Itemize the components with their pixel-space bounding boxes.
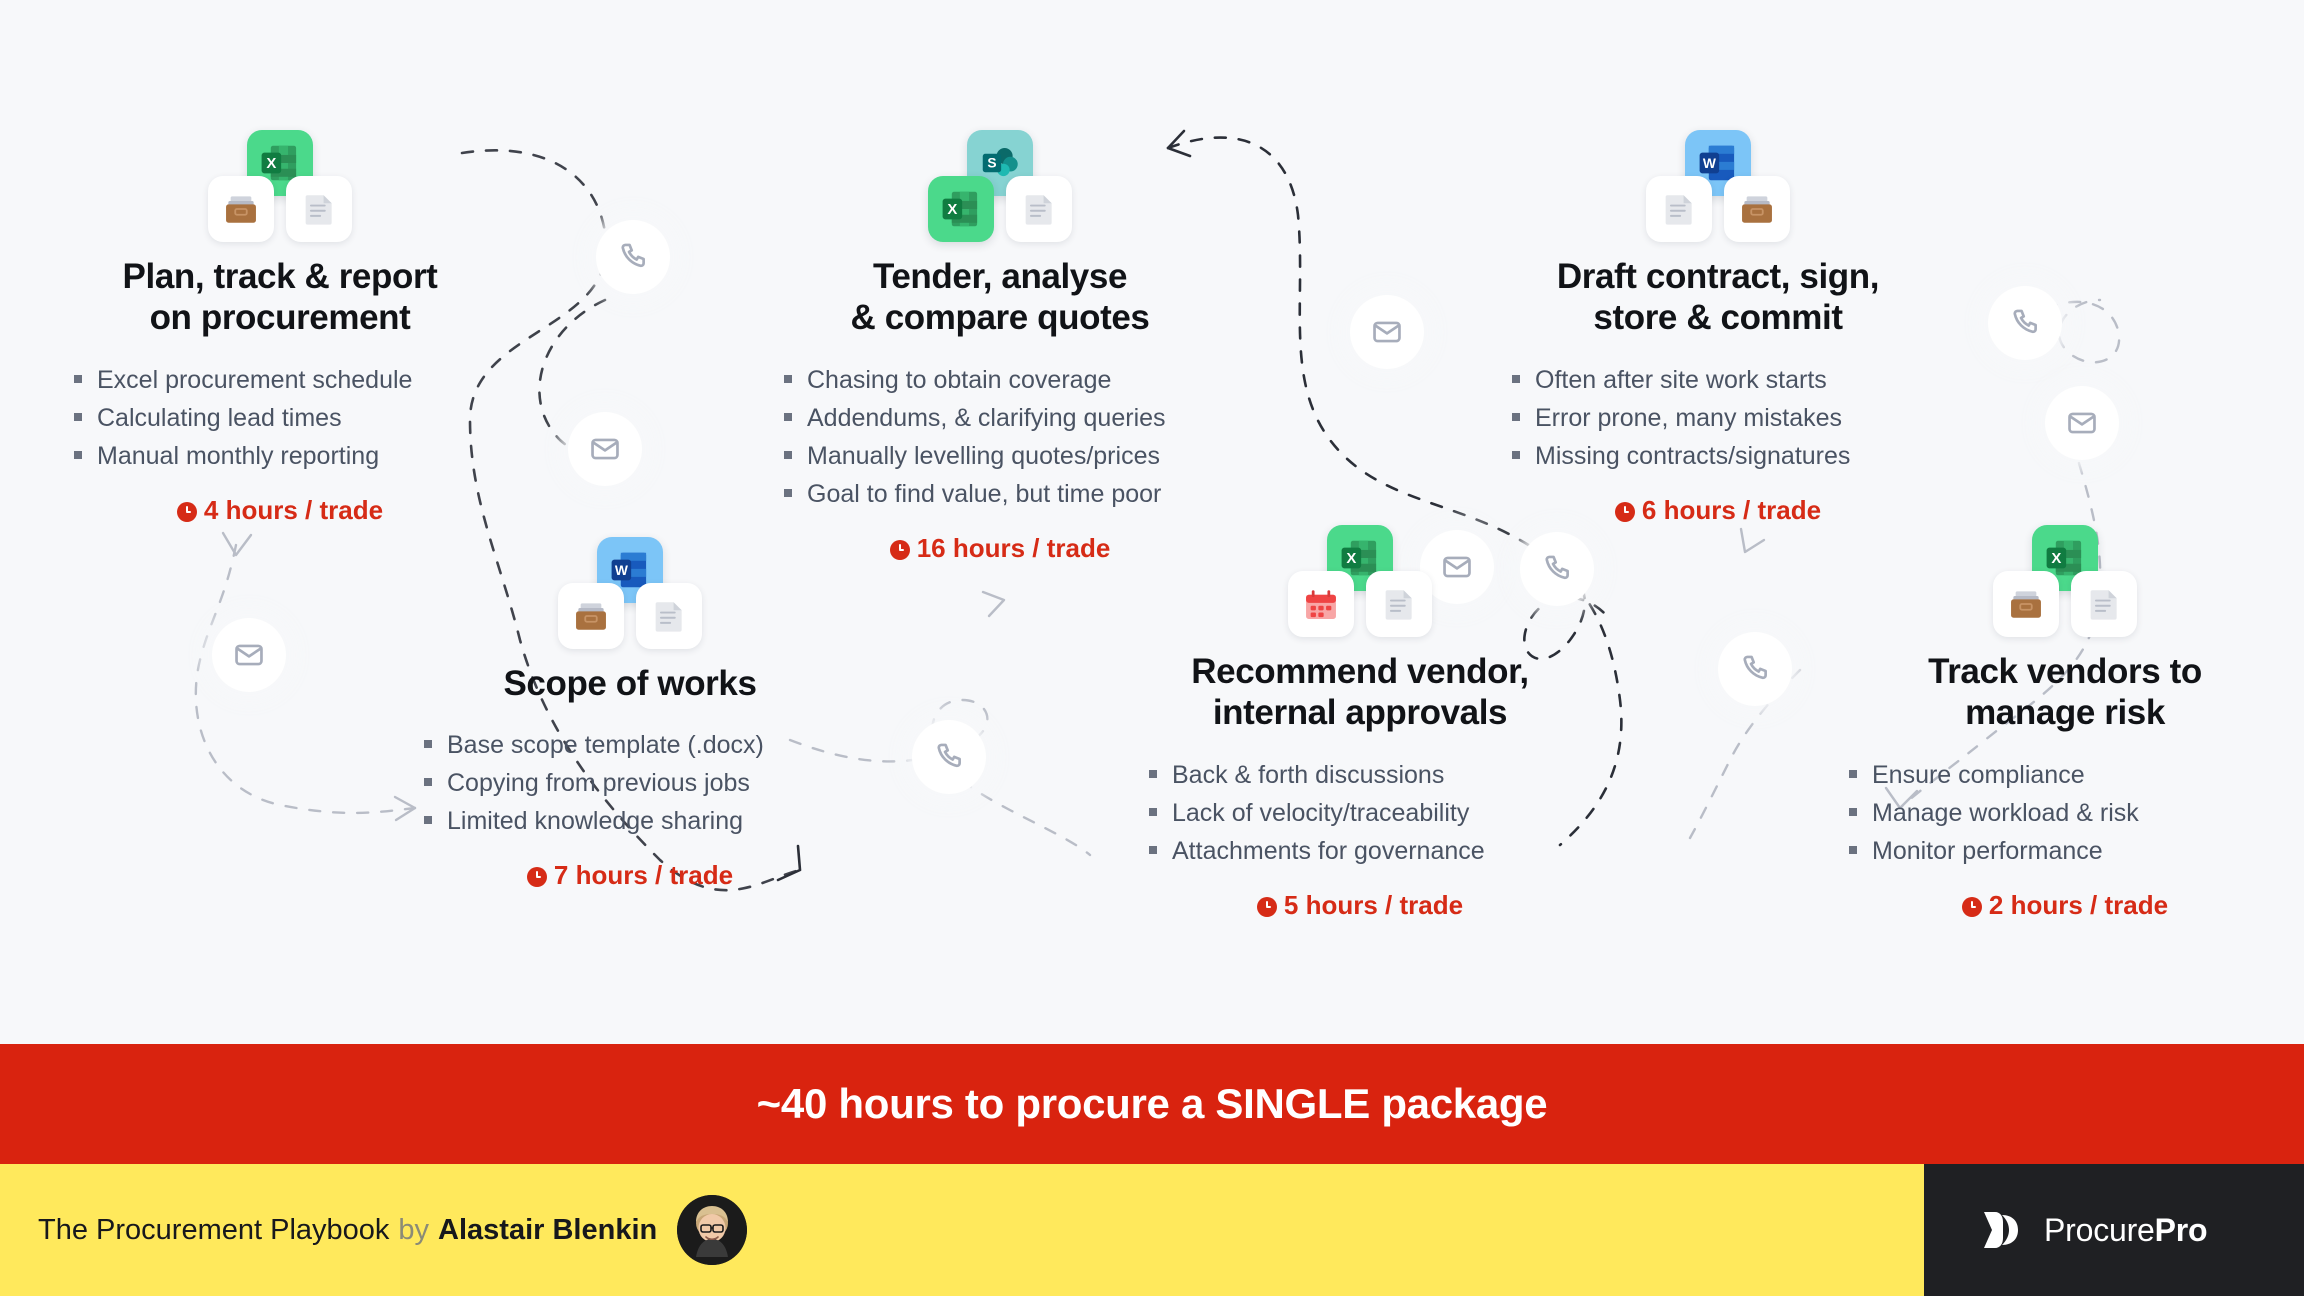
step-bullets: Base scope template (.docx) Copying from… (420, 726, 840, 840)
brand-suffix: Pro (2155, 1212, 2208, 1248)
svg-text:X: X (2051, 550, 2061, 567)
svg-text:S: S (987, 156, 996, 171)
bubble-envelope-1 (568, 412, 642, 486)
footer-brand-bar: The Procurement Playbook by Alastair Ble… (0, 1164, 1924, 1296)
envelope-icon (1370, 315, 1404, 349)
icon-cluster: W (1618, 130, 1818, 242)
svg-text:W: W (1703, 156, 1716, 171)
phone-icon (616, 240, 650, 274)
envelope-icon (2065, 406, 2099, 440)
step-bullets: Back & forth discussions Lack of velocit… (1145, 756, 1575, 870)
file-box-icon (1993, 571, 2059, 637)
list-item: Copying from previous jobs (420, 764, 840, 802)
phone-icon (1738, 652, 1772, 686)
clock-icon (1962, 897, 1982, 917)
phone-icon (932, 740, 966, 774)
hours-badge: 4 hours / trade (70, 495, 490, 526)
step-title: Draft contract, sign, store & commit (1508, 256, 1928, 339)
infographic-canvas: X Plan, track & report on procurement Ex… (0, 0, 2304, 1296)
svg-text:X: X (947, 201, 957, 218)
author-name: Alastair Blenkin (438, 1214, 657, 1247)
hours-badge: 5 hours / trade (1145, 890, 1575, 921)
list-item: Monitor performance (1845, 832, 2285, 870)
step-title: Scope of works (420, 663, 840, 704)
icon-cluster: W (530, 537, 730, 649)
step-bullets: Ensure compliance Manage workload & risk… (1845, 756, 2285, 870)
document-icon (2071, 571, 2137, 637)
document-icon (1006, 176, 1072, 242)
file-box-icon (208, 176, 274, 242)
file-box-icon (1724, 176, 1790, 242)
bubble-phone-2 (912, 720, 986, 794)
list-item: Attachments for governance (1145, 832, 1575, 870)
list-item: Often after site work starts (1508, 361, 1928, 399)
total-hours-banner: ~40 hours to procure a SINGLE package (0, 1044, 2304, 1164)
step-recommend-vendor: X Recommend vendor, internal approvals B… (1145, 525, 1575, 921)
list-item: Limited knowledge sharing (420, 802, 840, 840)
file-box-icon (558, 583, 624, 649)
list-item: Addendums, & clarifying queries (780, 399, 1220, 437)
list-item: Manage workload & risk (1845, 794, 2285, 832)
banner-text: ~40 hours to procure a SINGLE package (757, 1080, 1548, 1128)
document-icon (636, 583, 702, 649)
document-icon (286, 176, 352, 242)
list-item: Goal to find value, but time poor (780, 475, 1220, 513)
step-draft-contract: W Draft contract, sign, store & commit O… (1508, 130, 1928, 526)
icon-cluster: X (1260, 525, 1460, 637)
clock-icon (1257, 897, 1277, 917)
document-icon (1366, 571, 1432, 637)
clock-icon (890, 540, 910, 560)
list-item: Back & forth discussions (1145, 756, 1575, 794)
calendar-icon (1288, 571, 1354, 637)
clock-icon (1615, 502, 1635, 522)
list-item: Ensure compliance (1845, 756, 2285, 794)
byline-word: by (398, 1214, 429, 1247)
envelope-icon (232, 638, 266, 672)
bubble-phone-5 (1988, 286, 2062, 360)
excel-icon: X (928, 176, 994, 242)
step-title: Plan, track & report on procurement (70, 256, 490, 339)
list-item: Missing contracts/signatures (1508, 437, 1928, 475)
phone-icon (2008, 306, 2042, 340)
list-item: Manual monthly reporting (70, 437, 490, 475)
icon-cluster: S X (900, 130, 1100, 242)
footer: The Procurement Playbook by Alastair Ble… (0, 1164, 2304, 1296)
clock-icon (527, 867, 547, 887)
playbook-title: The Procurement Playbook (38, 1214, 389, 1247)
procurepro-brand: ProcurePro (1924, 1164, 2304, 1296)
list-item: Lack of velocity/traceability (1145, 794, 1575, 832)
step-bullets: Chasing to obtain coverage Addendums, & … (780, 361, 1220, 513)
step-bullets: Often after site work starts Error prone… (1508, 361, 1928, 475)
list-item: Manually levelling quotes/prices (780, 437, 1220, 475)
clock-icon (177, 502, 197, 522)
step-tender-analyse-compare: S X Tender, analyse & compare quotes Cha… (780, 130, 1220, 564)
bubble-envelope-5 (2045, 386, 2119, 460)
author-avatar (677, 1195, 747, 1265)
step-scope-of-works: W Scope of works Base scope template (.d… (420, 537, 840, 891)
bubble-phone-4 (1718, 632, 1792, 706)
list-item: Chasing to obtain coverage (780, 361, 1220, 399)
procurepro-logo (1976, 1204, 2028, 1256)
bubble-envelope-2 (212, 618, 286, 692)
list-item: Calculating lead times (70, 399, 490, 437)
step-plan-track-report: X Plan, track & report on procurement Ex… (70, 130, 490, 526)
svg-text:X: X (266, 155, 276, 172)
list-item: Base scope template (.docx) (420, 726, 840, 764)
step-title: Track vendors to manage risk (1845, 651, 2285, 734)
step-title: Tender, analyse & compare quotes (780, 256, 1220, 339)
svg-text:W: W (615, 563, 628, 578)
hours-badge: 6 hours / trade (1508, 495, 1928, 526)
bubble-phone-1 (596, 220, 670, 294)
icon-cluster: X (180, 130, 380, 242)
svg-text:X: X (1346, 550, 1356, 567)
document-icon (1646, 176, 1712, 242)
hours-badge: 2 hours / trade (1845, 890, 2285, 921)
list-item: Excel procurement schedule (70, 361, 490, 399)
step-bullets: Excel procurement schedule Calculating l… (70, 361, 490, 475)
brand-prefix: Procure (2044, 1212, 2155, 1248)
envelope-icon (588, 432, 622, 466)
brand-wordmark: ProcurePro (2044, 1212, 2207, 1249)
hours-badge: 7 hours / trade (420, 860, 840, 891)
icon-cluster: X (1965, 525, 2165, 637)
list-item: Error prone, many mistakes (1508, 399, 1928, 437)
bubble-envelope-3 (1350, 295, 1424, 369)
step-track-vendors: X Track vendors to manage risk Ensure co… (1845, 525, 2285, 921)
step-title: Recommend vendor, internal approvals (1145, 651, 1575, 734)
